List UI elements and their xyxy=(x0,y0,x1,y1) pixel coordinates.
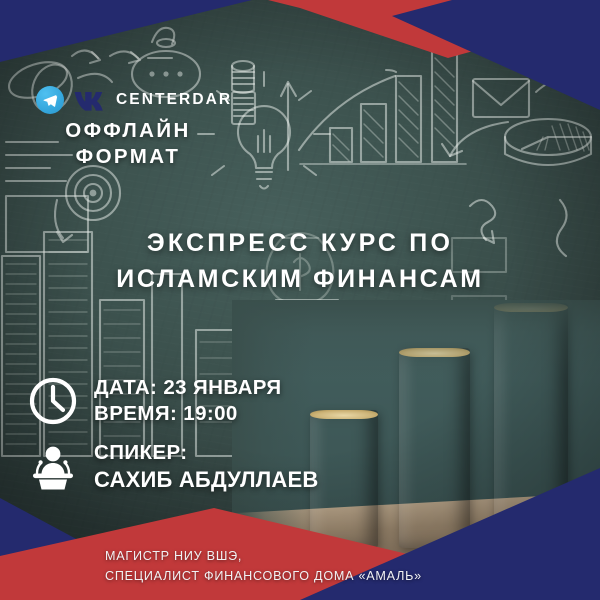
title-line-2: ИСЛАМСКИМ ФИНАНСАМ xyxy=(0,262,600,298)
speaker-label: СПИКЕР: xyxy=(94,440,318,466)
event-time: ВРЕМЯ: 19:00 xyxy=(94,401,281,427)
speaker-credentials: МАГИСТР НИУ ВШЭ, СПЕЦИАЛИСТ ФИНАНСОВОГО … xyxy=(105,546,422,587)
offline-format-line2: ФОРМАТ xyxy=(36,144,220,170)
top-left-navy-wedge xyxy=(0,0,252,62)
telegram-icon[interactable] xyxy=(36,86,64,114)
poster-title: ЭКСПРЕСС КУРС ПО ИСЛАМСКИМ ФИНАНСАМ xyxy=(0,226,600,297)
brand-name: CENTERDAR xyxy=(116,92,232,108)
schedule-text: ДАТА: 23 ЯНВАРЯ ВРЕМЯ: 19:00 xyxy=(94,375,281,427)
offline-format-badge: ОФФЛАЙН ФОРМАТ xyxy=(36,118,220,170)
credentials-line-2: СПЕЦИАЛИСТ ФИНАНСОВОГО ДОМА «АМАЛЬ» xyxy=(105,566,422,586)
vk-icon[interactable] xyxy=(73,88,107,112)
credentials-line-1: МАГИСТР НИУ ВШЭ, xyxy=(105,546,422,566)
title-line-1: ЭКСПРЕСС КУРС ПО xyxy=(0,226,600,262)
podium-speaker-icon xyxy=(26,440,80,494)
clock-icon xyxy=(26,374,80,428)
offline-format-line1: ОФФЛАЙН xyxy=(36,118,220,144)
event-date: ДАТА: 23 ЯНВАРЯ xyxy=(94,375,281,401)
speaker-text: СПИКЕР: САХИБ АБДУЛЛАЕВ xyxy=(94,440,318,494)
promo-poster: CENTERDAR ОФФЛАЙН ФОРМАТ ЭКСПРЕСС КУРС П… xyxy=(0,0,600,600)
schedule-row: ДАТА: 23 ЯНВАРЯ ВРЕМЯ: 19:00 xyxy=(26,374,318,428)
event-details: ДАТА: 23 ЯНВАРЯ ВРЕМЯ: 19:00 СПИКЕР: xyxy=(26,374,318,494)
speaker-name: САХИБ АБДУЛЛАЕВ xyxy=(94,466,318,494)
social-brand-row: CENTERDAR xyxy=(36,86,232,114)
speaker-row: СПИКЕР: САХИБ АБДУЛЛАЕВ xyxy=(26,440,318,494)
top-right-navy-wedge xyxy=(392,0,600,110)
